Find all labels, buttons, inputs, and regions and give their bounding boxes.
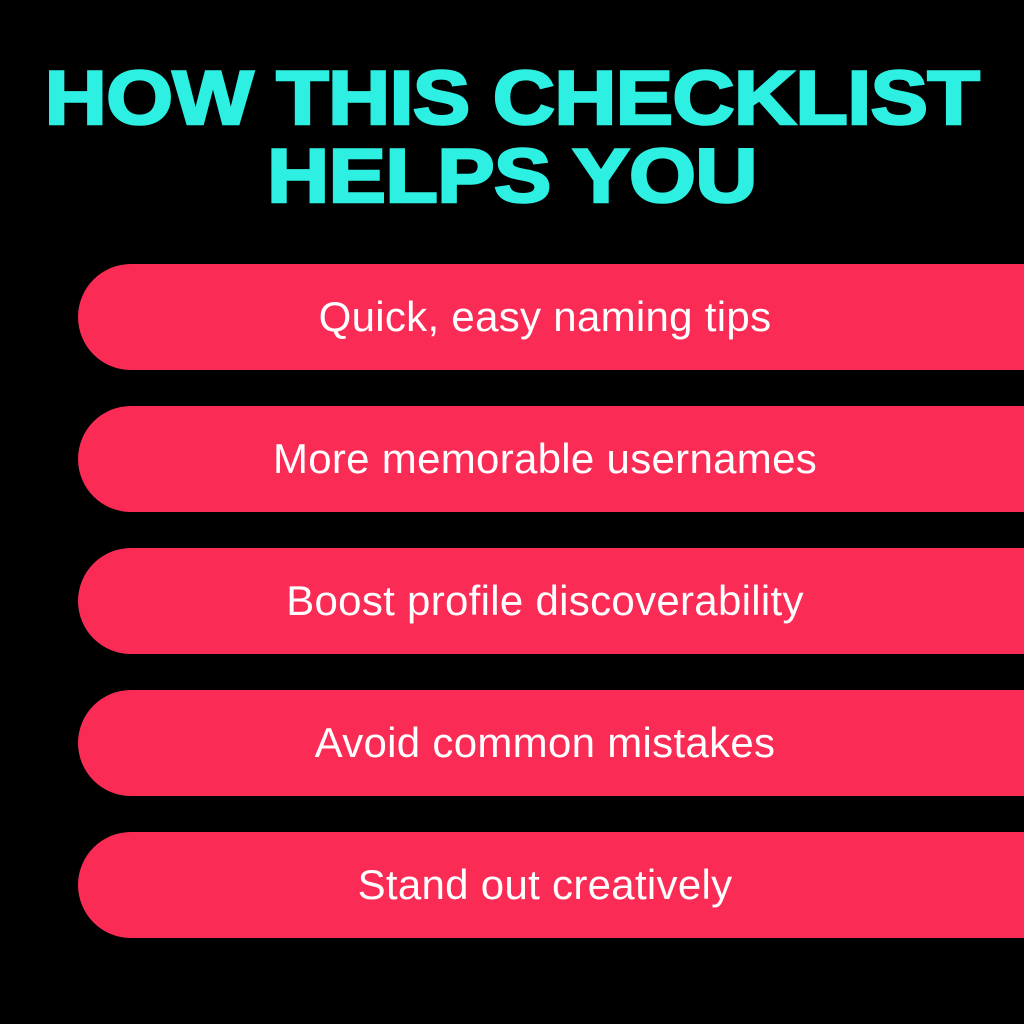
benefit-pill-1: Quick, easy naming tips xyxy=(78,264,1024,370)
benefit-label: Avoid common mistakes xyxy=(78,690,1012,796)
benefit-label: Boost profile discoverability xyxy=(78,548,1012,654)
benefit-pill-5: Stand out creatively xyxy=(78,832,1024,938)
benefit-label: More memorable usernames xyxy=(78,406,1012,512)
page-title-line-1: HOW THIS CHECKLIST xyxy=(0,62,1024,136)
page-title-line-2: HELPS YOU xyxy=(0,140,1024,214)
page-title: HOW THIS CHECKLIST HELPS YOU xyxy=(0,62,1024,215)
benefit-list: Quick, easy naming tips More memorable u… xyxy=(78,264,1024,938)
benefit-pill-2: More memorable usernames xyxy=(78,406,1024,512)
poster-canvas: HOW THIS CHECKLIST HELPS YOU Quick, easy… xyxy=(0,0,1024,1024)
benefit-label: Stand out creatively xyxy=(78,832,1012,938)
benefit-pill-3: Boost profile discoverability xyxy=(78,548,1024,654)
benefit-label: Quick, easy naming tips xyxy=(78,264,1012,370)
benefit-pill-4: Avoid common mistakes xyxy=(78,690,1024,796)
